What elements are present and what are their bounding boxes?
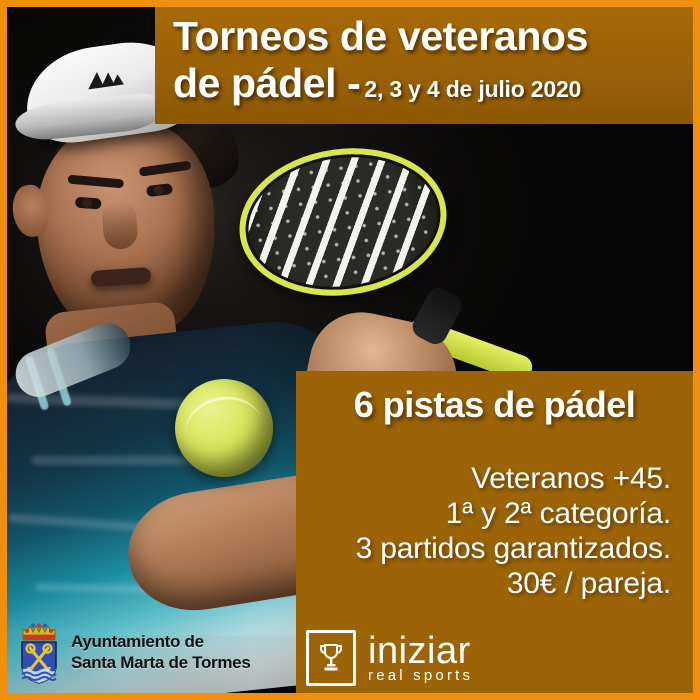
info-line: 30€ / pareja. bbox=[310, 566, 671, 601]
ayuntamiento-text: Ayuntamiento de Santa Marta de Tormes bbox=[71, 631, 251, 673]
info-line: 1ª y 2ª categoría. bbox=[310, 496, 671, 531]
info-line: Veteranos +45. bbox=[310, 461, 671, 496]
ayuntamiento-line2: Santa Marta de Tormes bbox=[71, 652, 251, 673]
info-line: 3 partidos garantizados. bbox=[310, 531, 671, 566]
poster-root: Torneos de veteranos de pádel - 2, 3 y 4… bbox=[0, 0, 700, 700]
header-panel: Torneos de veteranos de pádel - 2, 3 y 4… bbox=[155, 7, 693, 124]
trophy-icon bbox=[318, 642, 344, 674]
padel-ball-icon bbox=[175, 379, 273, 477]
courts-headline: 6 pistas de pádel bbox=[310, 383, 679, 427]
info-details-list: Veteranos +45. 1ª y 2ª categoría. 3 part… bbox=[310, 461, 679, 601]
padel-racket-icon bbox=[230, 135, 456, 309]
info-panel: 6 pistas de pádel Veteranos +45. 1ª y 2ª… bbox=[296, 371, 693, 610]
poster-title-line1: Torneos de veteranos bbox=[173, 13, 677, 60]
coat-of-arms-icon bbox=[16, 620, 62, 684]
iniziar-tagline: real sports bbox=[368, 667, 473, 684]
poster-title-line2-row: de pádel - 2, 3 y 4 de julio 2020 bbox=[173, 60, 677, 113]
trophy-badge bbox=[306, 630, 356, 686]
ayuntamiento-logo: Ayuntamiento de Santa Marta de Tormes bbox=[16, 620, 251, 684]
player-nose bbox=[101, 202, 138, 250]
poster-dates: 2, 3 y 4 de julio 2020 bbox=[364, 66, 581, 113]
iniziar-wordmark: iniziar real sports bbox=[368, 633, 473, 684]
poster-title-line2: de pádel - bbox=[173, 60, 360, 107]
iniziar-name: iniziar bbox=[368, 633, 473, 669]
iniziar-logo: iniziar real sports bbox=[306, 630, 473, 686]
ayuntamiento-line1: Ayuntamiento de bbox=[71, 631, 251, 652]
